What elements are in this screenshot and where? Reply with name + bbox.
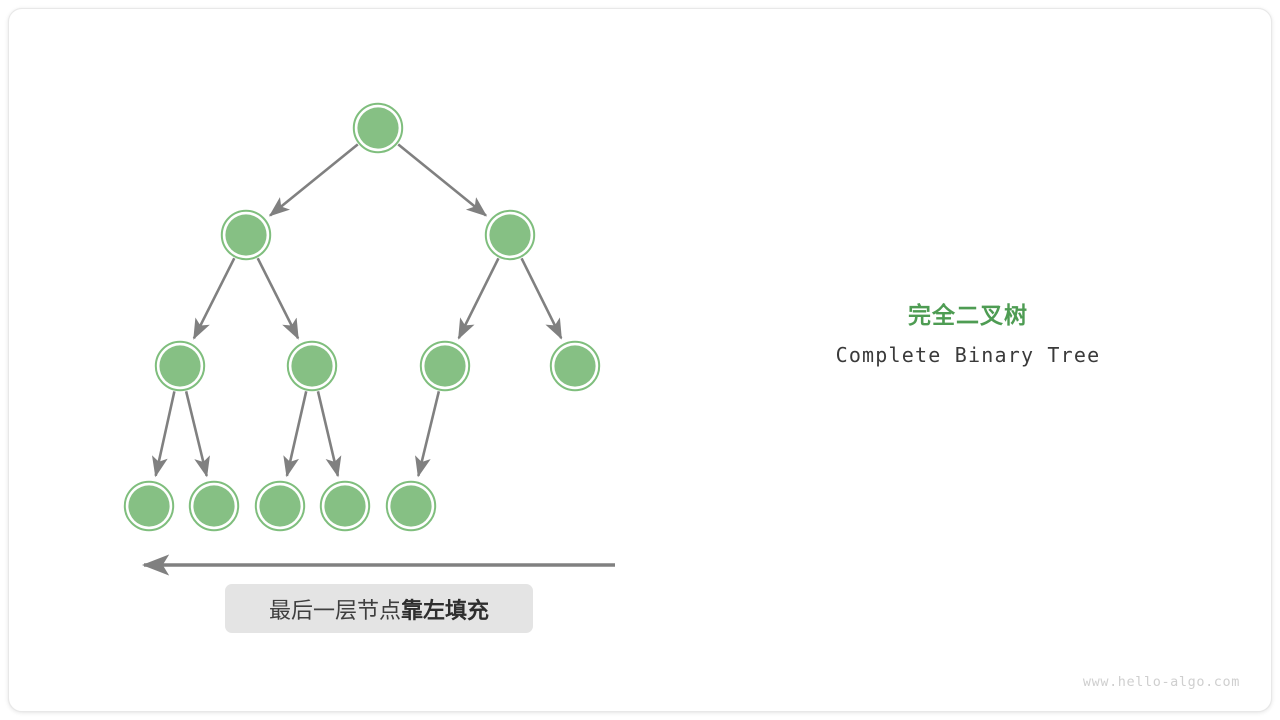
- figure-title-en: Complete Binary Tree: [768, 343, 1168, 367]
- tree-node: [421, 342, 469, 390]
- tree-edge: [398, 144, 486, 215]
- figure-title-zh: 完全二叉树: [768, 296, 1168, 330]
- tree-edge: [270, 144, 358, 215]
- tree-node: [354, 104, 402, 152]
- tree-node-fill: [291, 345, 332, 386]
- annotation-label-text: 最后一层节点靠左填充: [269, 593, 489, 625]
- tree-node: [387, 482, 435, 530]
- tree-node-fill: [128, 485, 169, 526]
- tree-node-fill: [357, 107, 398, 148]
- watermark: www.hello-algo.com: [1083, 674, 1240, 690]
- tree-node: [190, 482, 238, 530]
- tree-node-fill: [259, 485, 300, 526]
- tree-node: [551, 342, 599, 390]
- tree-edge: [194, 258, 234, 338]
- tree-edge: [156, 391, 175, 475]
- node-layer: [125, 104, 599, 530]
- tree-edge: [287, 391, 306, 475]
- figure-canvas: 完全二叉树 Complete Binary Tree 最后一层节点靠左填充 ww…: [0, 0, 1280, 720]
- tree-edge: [258, 258, 298, 338]
- annotation-label-normal: 最后一层节点: [269, 599, 401, 624]
- tree-node-fill: [489, 214, 530, 255]
- tree-edge: [318, 391, 338, 476]
- annotation-label-box: 最后一层节点靠左填充: [225, 584, 533, 633]
- tree-edge: [418, 391, 439, 476]
- tree-node: [156, 342, 204, 390]
- annotation-label-strong: 靠左填充: [401, 599, 489, 624]
- tree-node: [486, 211, 534, 259]
- tree-node-fill: [554, 345, 595, 386]
- tree-node: [256, 482, 304, 530]
- tree-node-fill: [225, 214, 266, 255]
- tree-node-fill: [193, 485, 234, 526]
- tree-node: [288, 342, 336, 390]
- tree-node: [321, 482, 369, 530]
- tree-edge: [459, 258, 499, 338]
- tree-node-fill: [324, 485, 365, 526]
- tree-node: [125, 482, 173, 530]
- tree-edge: [522, 258, 562, 338]
- edge-layer: [156, 144, 562, 476]
- tree-node: [222, 211, 270, 259]
- tree-node-fill: [390, 485, 431, 526]
- tree-edge: [186, 391, 207, 476]
- tree-node-fill: [424, 345, 465, 386]
- tree-node-fill: [159, 345, 200, 386]
